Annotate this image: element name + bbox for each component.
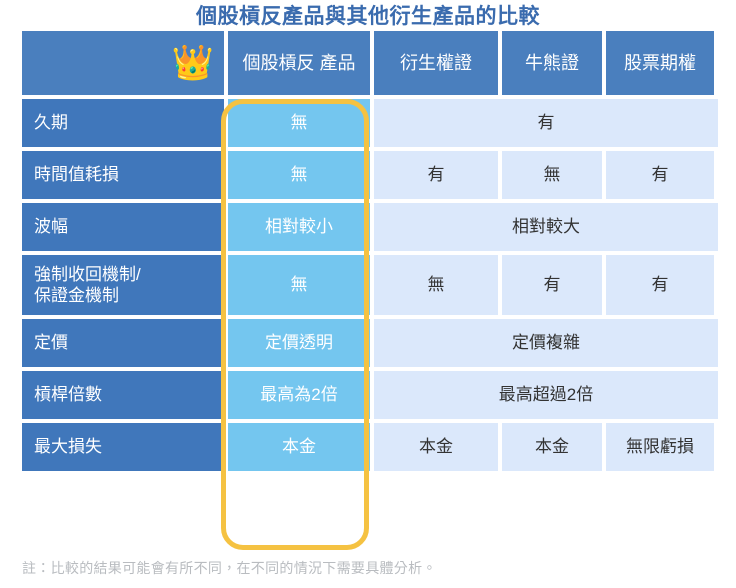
- table-row: 波幅 相對較小 相對較大: [22, 203, 714, 251]
- cell-hero: 定價透明: [228, 319, 370, 367]
- cell-hero: 無: [228, 99, 370, 147]
- cell-hero: 最高為2倍: [228, 371, 370, 419]
- table-row: 時間值耗損 無 有 無 有: [22, 151, 714, 199]
- comparison-table-infographic: 個股槓反產品與其他衍生產品的比較 👑 個股槓反 產品 衍生權證 牛熊證 股票期權…: [0, 0, 736, 588]
- cell-merged: 最高超過2倍: [374, 371, 718, 419]
- comparison-table: 👑 個股槓反 產品 衍生權證 牛熊證 股票期權 久期 無 有 時間值耗損 無 有…: [22, 31, 714, 471]
- cell-merged: 定價複雜: [374, 319, 718, 367]
- page-title: 個股槓反產品與其他衍生產品的比較: [0, 4, 736, 30]
- table-row: 槓桿倍數 最高為2倍 最高超過2倍: [22, 371, 714, 419]
- cell-cbbc: 有: [502, 255, 602, 315]
- cell-warrant: 本金: [374, 423, 498, 471]
- row-label: 槓桿倍數: [22, 371, 224, 419]
- column-header-warrant: 衍生權證: [374, 31, 498, 95]
- cell-warrant: 無: [374, 255, 498, 315]
- row-label: 定價: [22, 319, 224, 367]
- table-row: 定價 定價透明 定價複雜: [22, 319, 714, 367]
- cell-option: 有: [606, 255, 714, 315]
- column-header-option: 股票期權: [606, 31, 714, 95]
- table-row: 最大損失 本金 本金 本金 無限虧損: [22, 423, 714, 471]
- cell-option: 有: [606, 151, 714, 199]
- cell-cbbc: 本金: [502, 423, 602, 471]
- row-label: 波幅: [22, 203, 224, 251]
- cell-cbbc: 無: [502, 151, 602, 199]
- footnote: 註：比較的結果可能會有所不同，在不同的情況下需要具體分析。: [22, 558, 722, 578]
- cell-option: 無限虧損: [606, 423, 714, 471]
- table-row: 強制收回機制/ 保證金機制 無 無 有 有: [22, 255, 714, 315]
- cell-merged: 相對較大: [374, 203, 718, 251]
- cell-merged: 有: [374, 99, 718, 147]
- crown-icon: 👑: [172, 46, 214, 80]
- cell-hero: 本金: [228, 423, 370, 471]
- cell-hero: 相對較小: [228, 203, 370, 251]
- column-header-cbbc: 牛熊證: [502, 31, 602, 95]
- row-label: 時間值耗損: [22, 151, 224, 199]
- row-label: 強制收回機制/ 保證金機制: [22, 255, 224, 315]
- row-label: 久期: [22, 99, 224, 147]
- row-label: 最大損失: [22, 423, 224, 471]
- cell-hero: 無: [228, 151, 370, 199]
- table-row: 久期 無 有: [22, 99, 714, 147]
- cell-hero: 無: [228, 255, 370, 315]
- table-header-row: 👑 個股槓反 產品 衍生權證 牛熊證 股票期權: [22, 31, 714, 95]
- cell-warrant: 有: [374, 151, 498, 199]
- column-header-hero: 個股槓反 產品: [228, 31, 370, 95]
- header-corner-cell: 👑: [22, 31, 224, 95]
